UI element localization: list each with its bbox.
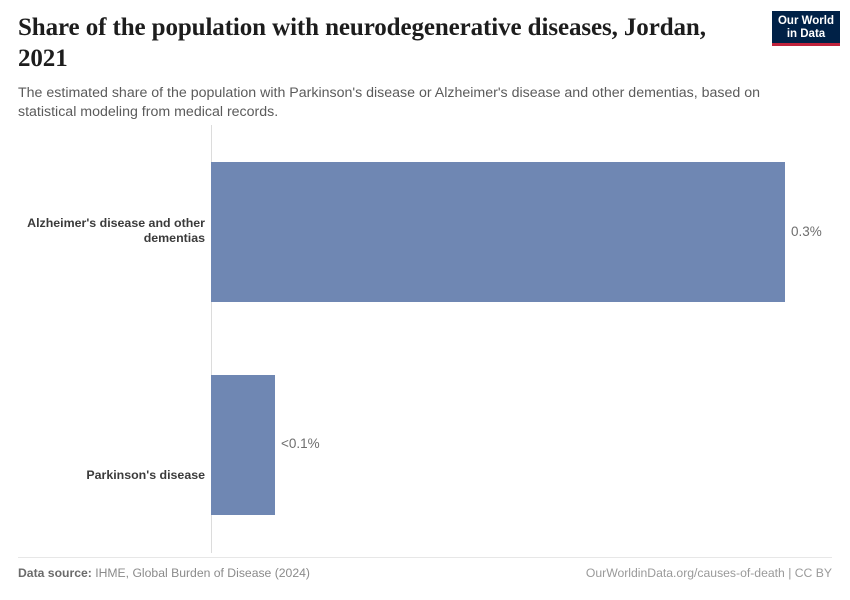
chart-subtitle: The estimated share of the population wi… xyxy=(18,84,793,122)
plot-area: Alzheimer's disease and other dementias … xyxy=(0,125,850,555)
footer-link[interactable]: OurWorldinData.org/causes-of-death | CC … xyxy=(586,566,832,580)
bar-row: Alzheimer's disease and other dementias … xyxy=(0,125,850,325)
logo-line-2: in Data xyxy=(777,28,835,41)
bar-label-alzheimers: Alzheimer's disease and other dementias xyxy=(15,216,205,246)
chart-header: Share of the population with neurodegene… xyxy=(18,12,832,122)
bar-value-parkinsons: <0.1% xyxy=(281,436,320,451)
bar-value-alzheimers: 0.3% xyxy=(791,224,822,239)
bar-alzheimers[interactable] xyxy=(211,162,785,302)
bar-parkinsons[interactable] xyxy=(211,375,275,515)
logo-line-1: Our World xyxy=(777,15,835,28)
footer-divider xyxy=(18,557,832,558)
bar-label-parkinsons: Parkinson's disease xyxy=(15,468,205,483)
chart-footer: Data source: IHME, Global Burden of Dise… xyxy=(18,566,832,590)
bar-label-line-1: Alzheimer's disease and other xyxy=(27,216,205,230)
chart-container: Share of the population with neurodegene… xyxy=(0,0,850,600)
data-source-label: Data source: xyxy=(18,566,92,580)
bar-label-line-1: Parkinson's disease xyxy=(86,468,205,482)
bar-row: Parkinson's disease <0.1% xyxy=(0,335,850,535)
data-source-value: IHME, Global Burden of Disease (2024) xyxy=(92,566,310,580)
our-world-in-data-logo[interactable]: Our World in Data xyxy=(772,11,840,46)
chart-title: Share of the population with neurodegene… xyxy=(18,12,718,74)
bar-label-line-2: dementias xyxy=(144,231,205,245)
data-source: Data source: IHME, Global Burden of Dise… xyxy=(18,566,310,580)
